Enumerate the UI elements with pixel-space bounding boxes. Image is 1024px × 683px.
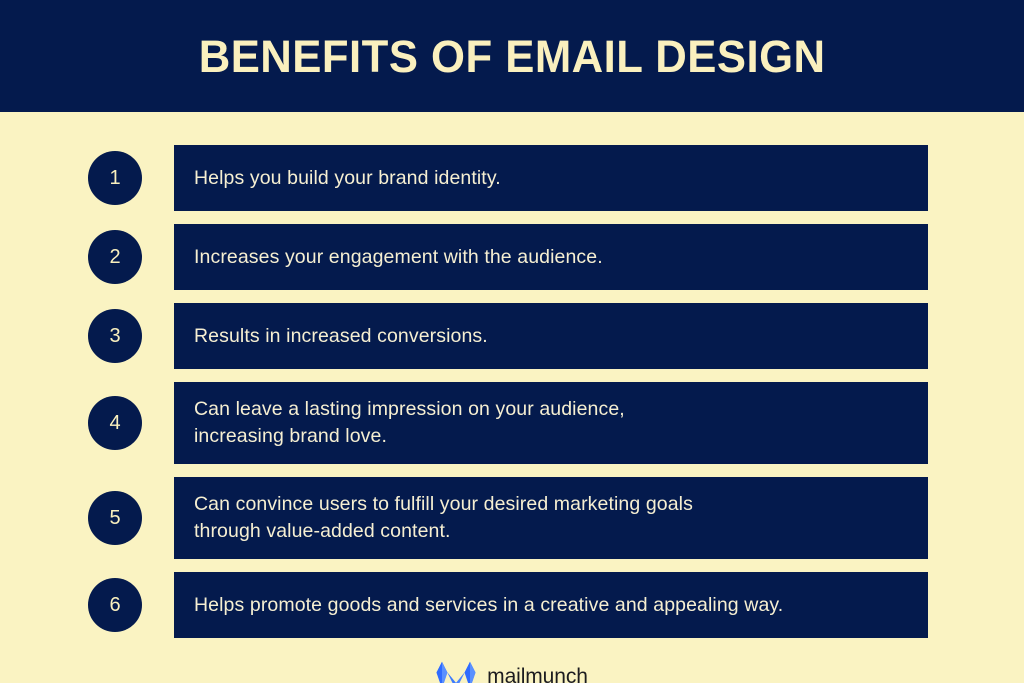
benefit-text-line: Can leave a lasting impression on your a… [194, 396, 928, 423]
benefit-number-badge: 1 [88, 151, 142, 205]
benefit-text-line: Results in increased conversions. [194, 323, 928, 350]
benefit-text-bar: Results in increased conversions. [174, 303, 928, 369]
benefit-number-badge: 2 [88, 230, 142, 284]
benefit-text-line: through value-added content. [194, 518, 928, 545]
page-title: BENEFITS OF EMAIL DESIGN [199, 34, 826, 79]
list-item: 2 Increases your engagement with the aud… [88, 224, 928, 290]
benefit-number-badge: 6 [88, 578, 142, 632]
header-banner: BENEFITS OF EMAIL DESIGN [0, 0, 1024, 112]
list-item: 3 Results in increased conversions. [88, 303, 928, 369]
footer: mailmunch [0, 638, 1024, 683]
benefit-number-badge: 3 [88, 309, 142, 363]
benefits-list: 1 Helps you build your brand identity. 2… [0, 112, 1024, 638]
benefit-text-line: Helps you build your brand identity. [194, 165, 928, 192]
list-item: 6 Helps promote goods and services in a … [88, 572, 928, 638]
benefit-text-bar: Can leave a lasting impression on your a… [174, 382, 928, 464]
brand-logo-lockup: mailmunch [436, 661, 588, 683]
mailmunch-m-logo-icon [436, 661, 476, 683]
benefit-number-badge: 4 [88, 396, 142, 450]
benefit-text-bar: Helps promote goods and services in a cr… [174, 572, 928, 638]
list-item: 5 Can convince users to fulfill your des… [88, 477, 928, 559]
benefit-text-bar: Can convince users to fulfill your desir… [174, 477, 928, 559]
benefit-text-bar: Helps you build your brand identity. [174, 145, 928, 211]
benefit-text-line: increasing brand love. [194, 423, 928, 450]
benefit-text-line: Can convince users to fulfill your desir… [194, 491, 928, 518]
infographic-poster: BENEFITS OF EMAIL DESIGN 1 Helps you bui… [0, 0, 1024, 683]
benefit-text-line: Increases your engagement with the audie… [194, 244, 928, 271]
benefit-text-line: Helps promote goods and services in a cr… [194, 592, 928, 619]
brand-wordmark: mailmunch [487, 666, 588, 683]
list-item: 4 Can leave a lasting impression on your… [88, 382, 928, 464]
list-item: 1 Helps you build your brand identity. [88, 145, 928, 211]
benefit-number-badge: 5 [88, 491, 142, 545]
benefit-text-bar: Increases your engagement with the audie… [174, 224, 928, 290]
